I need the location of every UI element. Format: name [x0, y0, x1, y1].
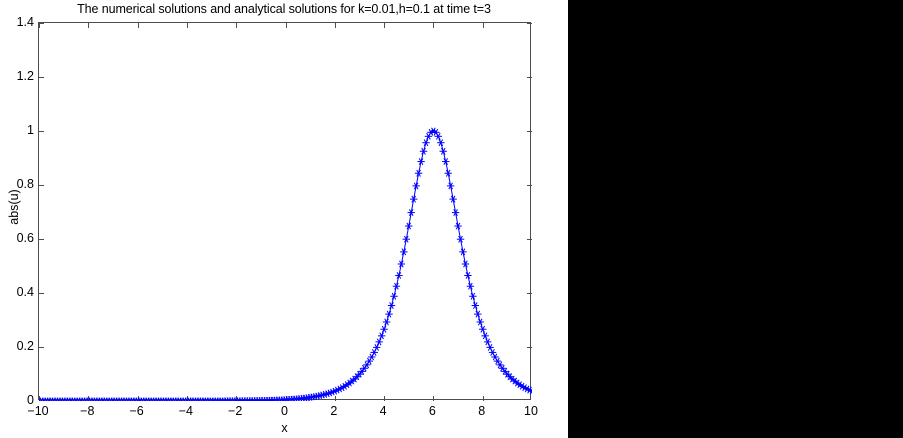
x-tick-label: 0 — [265, 404, 305, 418]
y-tick-label: 1.4 — [0, 16, 34, 28]
x-tick-label: 10 — [511, 404, 551, 418]
x-tick-label: −6 — [117, 404, 157, 418]
plot-axes-box — [38, 22, 531, 400]
plot-area — [39, 23, 532, 401]
x-axis-tick-labels: −10−8−6−4−20246810 — [38, 404, 531, 420]
x-tick-label: −8 — [67, 404, 107, 418]
y-tick-label: 0.2 — [0, 340, 34, 352]
x-tick-label: 4 — [363, 404, 403, 418]
x-tick-label: 2 — [314, 404, 354, 418]
y-axis-label: abs(u) — [7, 177, 21, 237]
x-tick-label: 6 — [412, 404, 452, 418]
matlab-figure-canvas: The numerical solutions and analytical s… — [0, 0, 568, 438]
y-tick-label: 0.4 — [0, 286, 34, 298]
x-tick-label: −2 — [215, 404, 255, 418]
empty-black-region — [568, 0, 903, 438]
x-tick-label: −4 — [166, 404, 206, 418]
y-tick-label: 1 — [0, 124, 34, 136]
chart-title: The numerical solutions and analytical s… — [0, 0, 568, 18]
x-tick-label: −10 — [18, 404, 58, 418]
x-axis-label: x — [38, 421, 531, 435]
x-tick-label: 8 — [462, 404, 502, 418]
y-tick-label: 1.2 — [0, 70, 34, 82]
